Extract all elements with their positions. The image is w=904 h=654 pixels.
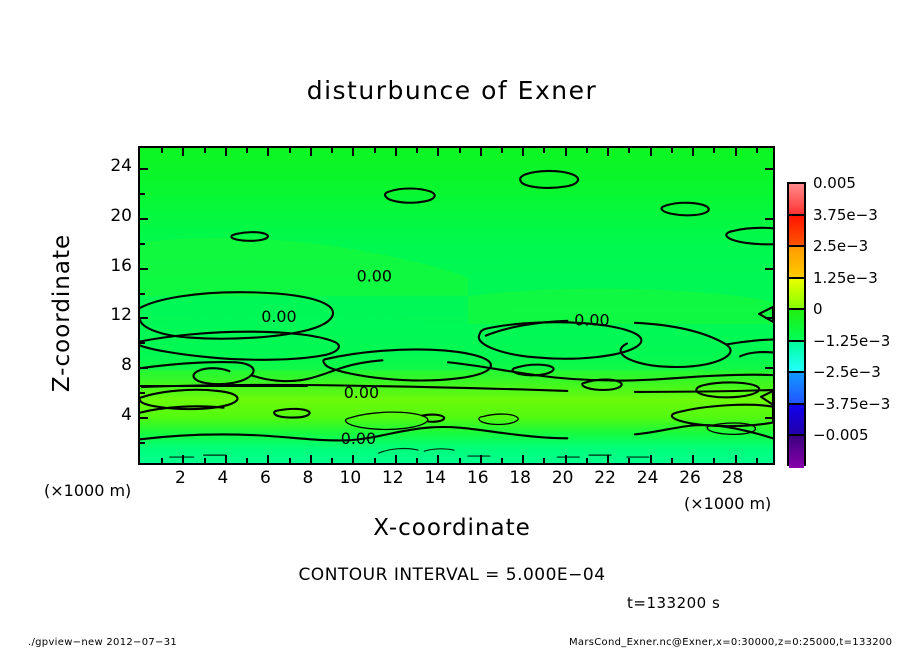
x-tick (395, 148, 397, 156)
colorbar-label: 1.25e−3 (813, 269, 878, 287)
x-tick-minor (756, 458, 758, 463)
x-tick-label: 4 (203, 468, 243, 488)
x-tick-label: 10 (330, 468, 370, 488)
x-tick-label: 14 (415, 468, 455, 488)
x-tick-minor (161, 458, 163, 463)
x-tick (522, 455, 524, 463)
z-tick (765, 367, 773, 369)
z-tick-label: 20 (92, 206, 132, 226)
x-tick-minor (289, 148, 291, 153)
z-tick (765, 417, 773, 419)
x-tick-minor (416, 148, 418, 153)
x-tick-minor (671, 148, 673, 153)
z-tick-minor (140, 243, 145, 245)
x-tick-label: 2 (160, 468, 200, 488)
z-tick-label: 24 (92, 156, 132, 176)
x-axis-title: X-coordinate (0, 515, 904, 541)
z-tick-label: 4 (92, 405, 132, 425)
z-tick (140, 367, 148, 369)
colorbar-band (789, 310, 804, 342)
x-tick (522, 148, 524, 156)
x-tick-minor (628, 458, 630, 463)
x-tick (692, 455, 694, 463)
colorbar-label: −2.5e−3 (813, 363, 881, 381)
x-tick (607, 455, 609, 463)
x-tick-minor (501, 458, 503, 463)
x-tick-minor (501, 148, 503, 153)
x-tick (480, 455, 482, 463)
x-tick (310, 455, 312, 463)
x-tick-minor (161, 148, 163, 153)
contour-plot-area[interactable]: 0.00 0.00 0.00 0.00 0.00 (138, 146, 775, 465)
footer-right: MarsCond_Exner.nc@Exner,x=0:30000,z=0:25… (569, 637, 892, 648)
x-tick (437, 455, 439, 463)
x-tick-minor (543, 458, 545, 463)
z-tick-minor (140, 442, 145, 444)
x-tick-label: 8 (288, 468, 328, 488)
x-tick (650, 455, 652, 463)
x-tick-minor (204, 458, 206, 463)
colorbar-band (789, 247, 804, 279)
x-tick-minor (416, 458, 418, 463)
colorbar[interactable] (787, 182, 806, 466)
x-tick-minor (586, 148, 588, 153)
x-tick-minor (246, 148, 248, 153)
x-tick-label: 12 (373, 468, 413, 488)
z-tick-minor (140, 392, 145, 394)
x-tick (650, 148, 652, 156)
x-tick-label: 26 (670, 468, 710, 488)
x-tick-minor (671, 458, 673, 463)
x-tick-minor (204, 148, 206, 153)
x-tick (182, 455, 184, 463)
x-tick (225, 455, 227, 463)
x-tick (565, 455, 567, 463)
x-tick-label: 16 (458, 468, 498, 488)
z-tick (140, 417, 148, 419)
x-tick (480, 148, 482, 156)
x-tick (395, 455, 397, 463)
x-tick (352, 455, 354, 463)
x-tick (735, 148, 737, 156)
x-tick-minor (586, 458, 588, 463)
x-tick-minor (628, 148, 630, 153)
x-tick-minor (374, 148, 376, 153)
x-tick-minor (543, 148, 545, 153)
colorbar-label: 0 (813, 300, 823, 318)
contour-label: 0.00 (357, 266, 392, 285)
colorbar-band (789, 216, 804, 248)
x-tick (437, 148, 439, 156)
z-tick (140, 317, 148, 319)
x-tick-label: 20 (543, 468, 583, 488)
colorbar-label: −3.75e−3 (813, 395, 890, 413)
z-axis-unit: (×1000 m) (44, 481, 131, 500)
heatmap-fill: 0.00 0.00 0.00 0.00 0.00 (140, 148, 773, 463)
x-tick-minor (246, 458, 248, 463)
contour-lines: 0.00 0.00 0.00 0.00 0.00 (140, 148, 773, 463)
time-stamp-note: t=133200 s (627, 594, 720, 612)
z-tick (765, 218, 773, 220)
contour-interval-note: CONTOUR INTERVAL = 5.000E−04 (0, 565, 904, 585)
colorbar-band (789, 436, 804, 468)
colorbar-label: −0.005 (813, 426, 869, 444)
colorbar-label: 0.005 (813, 174, 856, 192)
x-tick-label: 24 (628, 468, 668, 488)
footer-left: ./gpview−new 2012−07−31 (28, 637, 177, 648)
x-tick-label: 18 (500, 468, 540, 488)
z-tick (140, 168, 148, 170)
z-tick (765, 168, 773, 170)
x-tick (735, 455, 737, 463)
x-axis-unit: (×1000 m) (684, 494, 771, 513)
colorbar-band (789, 342, 804, 374)
colorbar-band (789, 279, 804, 311)
x-tick (352, 148, 354, 156)
x-tick-label: 22 (585, 468, 625, 488)
x-tick (565, 148, 567, 156)
x-tick-minor (756, 148, 758, 153)
x-tick-minor (374, 458, 376, 463)
colorbar-label: 2.5e−3 (813, 237, 868, 255)
x-tick-label: 6 (245, 468, 285, 488)
x-tick (607, 148, 609, 156)
contour-label: 0.00 (341, 429, 376, 448)
z-tick-label: 16 (92, 256, 132, 276)
colorbar-label: 3.75e−3 (813, 206, 878, 224)
x-tick-minor (331, 148, 333, 153)
z-tick-minor (140, 293, 145, 295)
colorbar-band (789, 184, 804, 216)
x-tick (182, 148, 184, 156)
x-tick (267, 455, 269, 463)
contour-label: 0.00 (261, 307, 296, 326)
z-tick (140, 268, 148, 270)
contour-label: 0.00 (574, 311, 609, 330)
z-tick-label: 12 (92, 305, 132, 325)
x-tick (267, 148, 269, 156)
x-tick (692, 148, 694, 156)
colorbar-label: −1.25e−3 (813, 332, 890, 350)
x-tick-minor (331, 458, 333, 463)
z-axis-title: Z-coordinate (49, 203, 75, 423)
colorbar-band (789, 373, 804, 405)
page-title: disturbunce of Exner (0, 76, 904, 105)
x-tick-minor (713, 458, 715, 463)
x-tick-label: 28 (713, 468, 753, 488)
z-tick-minor (140, 342, 145, 344)
x-tick-minor (713, 148, 715, 153)
x-tick-minor (289, 458, 291, 463)
z-tick-label: 8 (92, 355, 132, 375)
x-tick-minor (459, 458, 461, 463)
x-tick (225, 148, 227, 156)
z-tick (765, 317, 773, 319)
z-tick (140, 218, 148, 220)
z-tick (765, 268, 773, 270)
z-tick-minor (140, 193, 145, 195)
x-tick (310, 148, 312, 156)
colorbar-band (789, 405, 804, 437)
x-tick-minor (459, 148, 461, 153)
contour-label: 0.00 (344, 383, 379, 402)
